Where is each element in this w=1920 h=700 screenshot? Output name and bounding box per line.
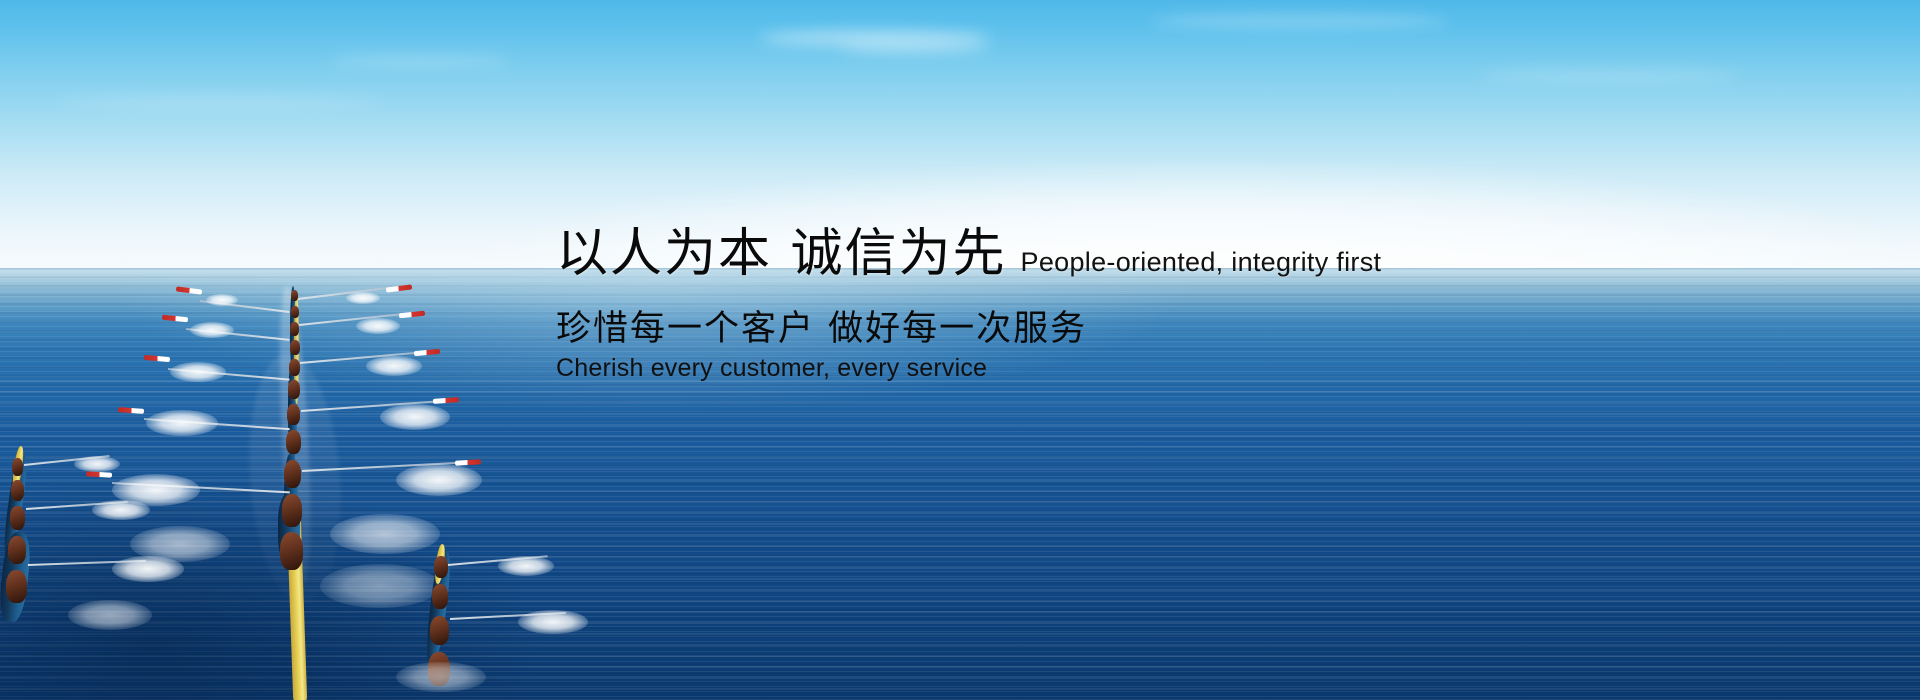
oar-blade <box>86 471 112 477</box>
rower <box>286 430 301 454</box>
oar-splash <box>92 500 150 520</box>
oar-splash <box>366 356 422 376</box>
oar-blade <box>433 397 459 404</box>
rower <box>10 506 25 530</box>
cloud-wisp-icon <box>840 42 990 53</box>
cloud-wisp-icon <box>1480 70 1740 82</box>
oar-splash <box>498 556 554 576</box>
cloud-wisp-icon <box>1150 14 1450 28</box>
oar-splash <box>396 662 486 692</box>
headline-chinese: 以人为本 诚信为先 <box>556 228 1007 280</box>
oar-blade <box>162 315 188 323</box>
oar-splash <box>146 410 218 436</box>
oar-splash <box>68 600 152 630</box>
rower <box>8 536 26 564</box>
oar-blade <box>118 407 144 414</box>
rower <box>287 404 300 425</box>
oar-splash <box>396 464 482 496</box>
subheadline-english: Cherish every customer, every service <box>556 355 1556 383</box>
oar-blade <box>455 459 481 465</box>
rower <box>430 616 449 645</box>
oar-splash <box>206 294 238 306</box>
rower <box>12 458 23 476</box>
oar-splash <box>190 322 234 338</box>
rower <box>282 494 302 527</box>
headline-row: 以人为本 诚信为先 People-oriented, integrity fir… <box>556 228 1556 280</box>
oar-splash <box>170 362 226 382</box>
oar-blade <box>399 311 425 319</box>
rower <box>434 556 448 578</box>
oar-splash <box>330 514 440 554</box>
rower <box>280 532 303 570</box>
headline-english: People-oriented, integrity first <box>1021 249 1382 280</box>
oar-splash <box>356 318 400 334</box>
rower <box>284 460 301 488</box>
oar-blade <box>144 355 170 362</box>
rower <box>289 359 300 376</box>
cloud-wisp-icon <box>60 96 380 108</box>
oar-splash <box>380 404 450 430</box>
rower <box>291 306 299 318</box>
cloud-wisp-icon <box>330 56 510 66</box>
oar-splash <box>112 556 184 582</box>
rower <box>290 340 300 355</box>
rower <box>6 570 27 603</box>
hero-banner: 以人为本 诚信为先 People-oriented, integrity fir… <box>0 0 1920 700</box>
rower <box>291 290 298 301</box>
oar-splash <box>74 456 120 472</box>
oar-splash <box>518 610 588 634</box>
oar-splash <box>346 292 380 304</box>
rower <box>11 480 24 501</box>
rower <box>432 584 448 609</box>
rower <box>290 322 299 336</box>
oar-splash <box>320 564 440 608</box>
oar-blade <box>386 284 412 292</box>
oar-blade <box>414 349 440 356</box>
rower <box>288 380 300 399</box>
subheadline-chinese: 珍惜每一个客户 做好每一次服务 <box>556 310 1556 349</box>
slogan-block: 以人为本 诚信为先 People-oriented, integrity fir… <box>556 228 1556 382</box>
oar-blade <box>176 286 202 294</box>
